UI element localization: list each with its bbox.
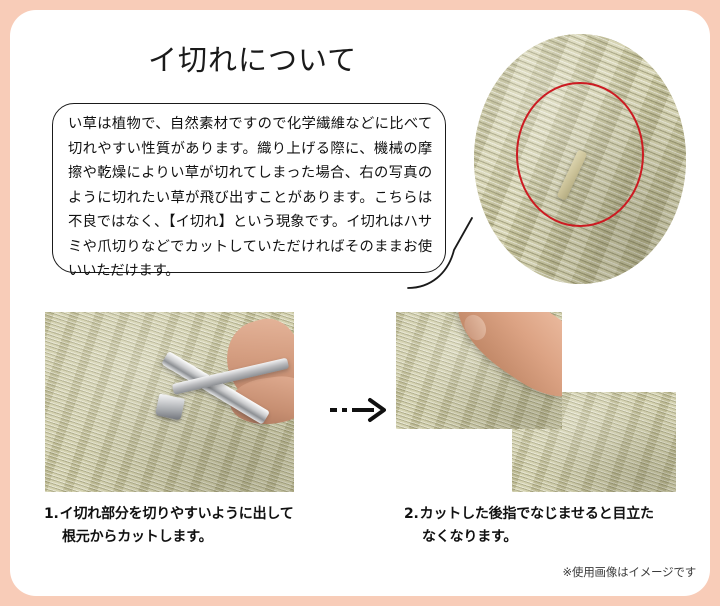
page-title: イ切れについて	[148, 42, 357, 78]
step-2-caption-line1: カットした後指でなじませると目立た	[420, 506, 654, 522]
step-2-caption: 2.カットした後指でなじませると目立た なくなります。	[404, 503, 704, 548]
step-2-caption-line2: なくなります。	[404, 526, 704, 549]
highlight-ellipse-icon	[516, 82, 643, 227]
hero-photo	[474, 34, 686, 284]
step-1-photo	[45, 312, 294, 492]
description-text: い草は植物で、自然素材ですので化学繊維などに比べて切れやすい性質があります。織り…	[68, 112, 432, 284]
dashed-arrow-right-icon	[328, 396, 386, 424]
image-disclaimer-note: ※使用画像はイメージです	[562, 564, 696, 580]
step-2-number: 2.	[404, 506, 419, 522]
step-1-caption-line1: イ切れ部分を切りやすいように出して	[60, 506, 294, 522]
step-2-photo-front	[396, 312, 562, 429]
infographic-page: イ切れについて い草は植物で、自然素材ですので化学繊維などに比べて切れやすい性質…	[0, 0, 720, 606]
step-1-caption-line2: 根元からカットします。	[44, 526, 344, 549]
step-1-caption: 1.イ切れ部分を切りやすいように出して 根元からカットします。	[44, 503, 344, 548]
step-1-number: 1.	[44, 506, 59, 522]
